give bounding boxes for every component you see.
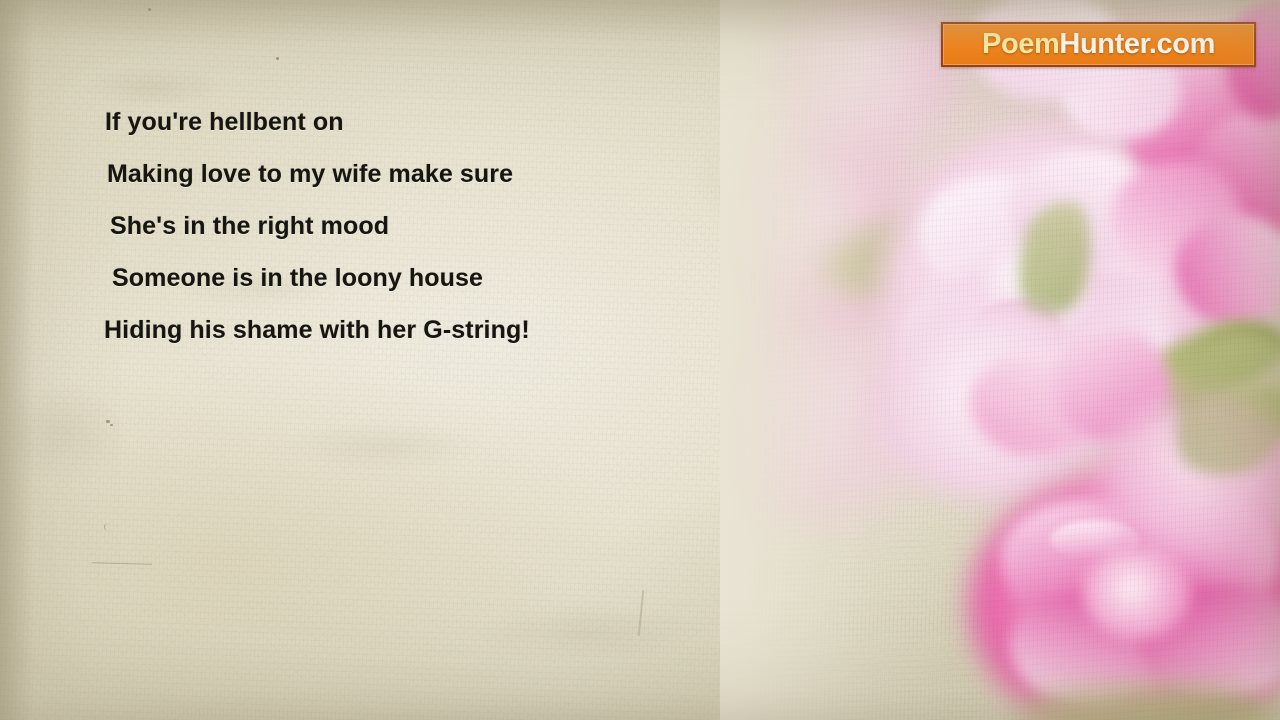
paper-speck xyxy=(276,57,279,60)
left-edge-stain xyxy=(0,0,34,720)
paper-scratch xyxy=(104,523,112,531)
poem-text-block: If you're hellbent on Making love to my … xyxy=(0,96,760,356)
top-edge-stain xyxy=(0,0,1280,46)
pink-roses-photo xyxy=(720,0,1280,720)
paper-speck xyxy=(106,420,110,423)
floral-grain-texture xyxy=(720,0,1280,720)
poem-line-5: Hiding his shame with her G-string! xyxy=(0,304,760,356)
poem-line-2: Making love to my wife make sure xyxy=(0,148,760,200)
poem-line-1: If you're hellbent on xyxy=(0,96,760,148)
poem-line-3: She's in the right mood xyxy=(0,200,760,252)
paper-speck xyxy=(110,424,113,426)
poem-image-card: If you're hellbent on Making love to my … xyxy=(0,0,1280,720)
poem-line-4: Someone is in the loony house xyxy=(0,252,760,304)
